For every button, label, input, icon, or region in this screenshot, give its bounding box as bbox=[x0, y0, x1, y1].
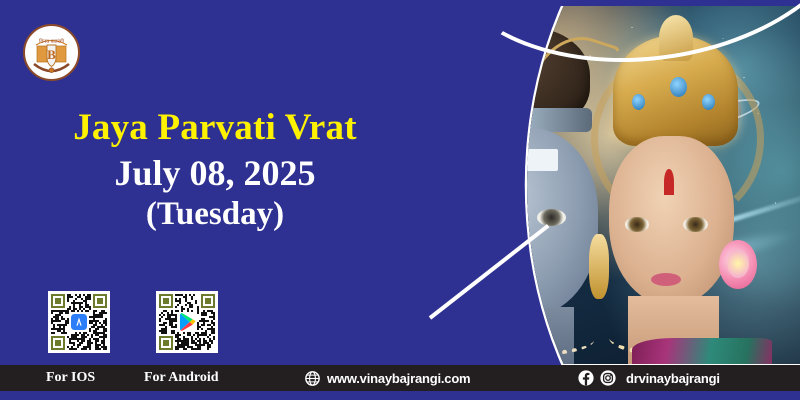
globe-icon bbox=[305, 371, 320, 386]
social-handle: drvinaybajrangi bbox=[626, 371, 720, 386]
parvati-earring bbox=[589, 234, 610, 299]
trishul-mark bbox=[515, 149, 525, 203]
parvati-saree bbox=[632, 338, 772, 364]
tripundra-tilak bbox=[488, 149, 559, 160]
parvati-left-eye bbox=[625, 217, 650, 232]
parvati-figure bbox=[583, 38, 772, 364]
hero-image-container bbox=[430, 6, 800, 366]
vinay-bajrangi-logo[interactable]: विनय बजरंगी B bbox=[23, 24, 80, 81]
logo-crest-icon: विनय बजरंगी B bbox=[25, 26, 78, 79]
headline-block: Jaya Parvati Vrat July 08, 2025 (Tuesday… bbox=[0, 108, 430, 234]
logo-devanagari-text: विनय बजरंगी bbox=[39, 38, 65, 45]
shiva-parvati-artwork bbox=[450, 6, 800, 364]
instagram-icon[interactable] bbox=[600, 370, 616, 386]
app-store-icon bbox=[69, 312, 89, 332]
event-weekday: (Tuesday) bbox=[0, 195, 430, 234]
shiva-left-eye bbox=[468, 209, 497, 226]
crown-finial bbox=[659, 15, 693, 61]
parvati-lips bbox=[651, 273, 681, 286]
social-links[interactable]: drvinaybajrangi bbox=[578, 370, 720, 386]
crescent-moon-icon bbox=[488, 41, 531, 88]
bindi-mark bbox=[664, 169, 673, 195]
parvati-right-eye bbox=[683, 217, 708, 232]
qr-code-android[interactable] bbox=[156, 291, 218, 353]
shiva-bead-necklace bbox=[453, 324, 594, 358]
qr-code-ios[interactable] bbox=[48, 291, 110, 353]
shiva-right-eye bbox=[537, 209, 566, 226]
website-link[interactable]: www.vinaybajrangi.com bbox=[305, 371, 470, 386]
for-ios-label: For IOS bbox=[46, 370, 95, 386]
crown-gem-center bbox=[670, 77, 687, 97]
shiva-face bbox=[450, 128, 598, 316]
page-title: Jaya Parvati Vrat bbox=[0, 108, 430, 148]
logo-monogram: B bbox=[47, 47, 56, 62]
shiva-headband bbox=[454, 108, 591, 132]
event-date: July 08, 2025 bbox=[0, 152, 430, 195]
google-play-icon bbox=[177, 312, 197, 332]
banner-root: विनय बजरंगी B Jaya Parvati Vrat July 08,… bbox=[0, 0, 800, 400]
oil-lamp-icon bbox=[450, 270, 458, 310]
footer-bar: For IOS For Android www.vinaybajrangi.co… bbox=[0, 365, 800, 391]
facebook-icon[interactable] bbox=[578, 370, 594, 386]
flower-ornament-icon bbox=[719, 240, 757, 289]
website-url: www.vinaybajrangi.com bbox=[327, 371, 470, 386]
for-android-label: For Android bbox=[144, 370, 219, 386]
shiva-robe bbox=[450, 317, 547, 364]
app-download-qr-row bbox=[48, 291, 218, 353]
